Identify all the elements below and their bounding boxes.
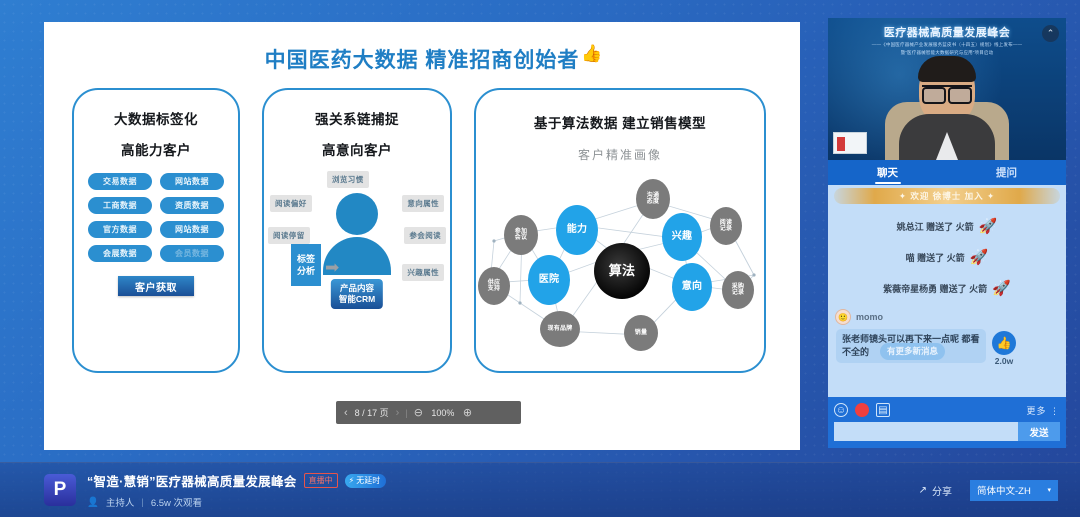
network-node: 供应 支持 — [478, 267, 510, 305]
share-label: 分享 — [932, 483, 952, 498]
chevron-down-icon: ▾ — [1047, 486, 1051, 494]
chat-message-author-row: 🙂 momo — [835, 309, 1066, 325]
chat-input-row[interactable]: 发送 — [834, 422, 1060, 441]
speaker-figure — [883, 64, 1011, 160]
emoji-icon[interactable]: ☺ — [834, 403, 848, 417]
zoom-level: 100% — [429, 408, 457, 418]
gift-icon[interactable] — [855, 403, 869, 417]
chat-message-bubble: 张老师镜头可以再下来一点呢 都看不全的 有更多新消息 — [836, 329, 986, 363]
data-pill: 网站数据 — [160, 221, 224, 238]
poster-standee — [833, 132, 867, 154]
panel-right-heading: 基于算法数据 建立销售模型 — [476, 112, 764, 132]
data-pill: 会展数据 — [88, 245, 152, 262]
no-lag-badge: ⚡ 无延时 — [345, 474, 387, 488]
network-node: 采购 记录 — [722, 271, 754, 309]
persona-head-icon — [336, 193, 378, 235]
chat-input-area[interactable]: ☺ ▤ 更多 ⋮ 发送 — [828, 397, 1066, 448]
chat-toolbar[interactable]: ☺ ▤ 更多 ⋮ — [834, 402, 1060, 418]
slide-title-text: 中国医药大数据 精准招商创始者 — [265, 49, 580, 72]
network-node: 现有品牌 — [540, 311, 580, 347]
tag-analysis-line-2: 分析 — [297, 265, 315, 277]
zoom-in-icon[interactable]: ⊕ — [463, 406, 472, 419]
welcome-banner: ✦ 欢迎 徐博士 加入 ✦ — [834, 188, 1060, 204]
data-pill: 网站数据 — [160, 173, 224, 190]
chat-input[interactable] — [834, 422, 1018, 441]
network-node: 意向 — [672, 263, 712, 311]
chat-message-row: 张老师镜头可以再下来一点呢 都看不全的 有更多新消息 👍 2.0w — [836, 329, 1066, 366]
send-button[interactable]: 发送 — [1018, 422, 1060, 441]
footer-info: “智造·慧销”医疗器械高质量发展峰会 直播中 ⚡ 无延时 👤 主持人 | 6.5… — [87, 471, 386, 509]
tag-analysis-connector: 标签 分析 — [291, 244, 321, 286]
page-indicator: 8 / 17 页 — [354, 406, 390, 419]
brand-logo: P — [44, 474, 76, 506]
bubble-reading-preference: 阅读偏好 — [270, 195, 312, 212]
pdf-viewer-toolbar[interactable]: ‹ 8 / 17 页 › | ⊖ 100% ⊕ — [336, 401, 521, 424]
panel-strong-relationship: 强关系链捕捉 高意向客户 浏览习惯 阅读偏好 阅读停留 意向属性 参会阅读 兴趣… — [262, 88, 452, 373]
data-pill: 官方数据 — [88, 221, 152, 238]
data-pill: 交易数据 — [88, 173, 152, 190]
tag-analysis-line-1: 标签 — [297, 253, 315, 265]
rocket-icon: 🚀 — [979, 217, 998, 235]
graph-subtitle: 客户精准画像 — [476, 146, 764, 163]
chat-tab-bar[interactable]: 聊天 提问 — [828, 160, 1066, 185]
thumbs-up-icon: 👍 — [581, 44, 603, 64]
person-icon: 👤 — [87, 497, 99, 508]
network-node-core: 算法 — [594, 243, 650, 299]
bubble-browsing-habit: 浏览习惯 — [327, 171, 369, 188]
footer-actions: ↗ 分享 简体中文-ZH ▾ — [919, 480, 1058, 501]
bubble-intent-attribute: 意向属性 — [402, 195, 444, 212]
bubble-meeting-reading: 参会阅读 — [404, 227, 446, 244]
live-status-badge: 直播中 — [304, 473, 338, 488]
event-title: “智造·慧销”医疗器械高质量发展峰会 — [87, 471, 297, 490]
rocket-icon: 🚀 — [992, 279, 1011, 297]
network-node: 能力 — [556, 205, 598, 255]
slide-panels: 大数据标签化 高能力客户 交易数据 网站数据 工商数据 资质数据 官方数据 网站… — [44, 74, 800, 373]
panel-mid-heading-1: 强关系链捕捉 — [264, 108, 450, 128]
data-pill: 工商数据 — [88, 197, 152, 214]
footer-meta: 👤 主持人 | 6.5w 次观看 — [87, 495, 386, 509]
share-button[interactable]: ↗ 分享 — [919, 483, 952, 498]
slide-title: 中国医药大数据 精准招商创始者👍 — [44, 44, 800, 74]
zoom-out-icon[interactable]: ⊖ — [414, 406, 423, 419]
footer-bar: P “智造·慧销”医疗器械高质量发展峰会 直播中 ⚡ 无延时 👤 主持人 | 6… — [0, 462, 1080, 517]
gift-message: 喵 赠送了 火箭 🚀 — [828, 248, 1066, 266]
bubble-reading-dwell: 阅读停留 — [268, 227, 310, 244]
host-role: 主持人 — [106, 495, 135, 509]
share-icon: ↗ — [919, 485, 927, 496]
view-count: 6.5w 次观看 — [151, 495, 202, 509]
crm-line-2: 智能CRM — [339, 294, 375, 305]
tab-chat[interactable]: 聊天 — [828, 160, 947, 185]
avatar: 🙂 — [835, 309, 851, 325]
customer-profile-network-graph: 参加 会议能力沟通 态度兴趣阅读 记录医院供应 支持意向采购 记录现有品牌销量 … — [476, 163, 764, 359]
network-node: 阅读 记录 — [710, 207, 742, 245]
thumbs-up-icon[interactable]: 👍 — [992, 331, 1016, 355]
crm-label: 产品内容 智能CRM — [331, 279, 383, 309]
gift-message-text: 姚总江 赠送了 火箭 — [897, 220, 974, 233]
gift-message: 紫薇帝星杨勇 赠送了 火箭 🚀 — [828, 279, 1066, 297]
glasses-icon — [922, 85, 972, 98]
presentation-slide-area[interactable]: 中国医药大数据 精准招商创始者👍 大数据标签化 高能力客户 交易数据 网站数据 … — [44, 22, 800, 450]
more-options-button[interactable]: 更多 ⋮ — [1026, 404, 1060, 417]
network-node: 参加 会议 — [504, 215, 538, 255]
crm-line-1: 产品内容 — [339, 283, 375, 294]
panel-big-data-tagging: 大数据标签化 高能力客户 交易数据 网站数据 工商数据 资质数据 官方数据 网站… — [72, 88, 240, 373]
toolbar-divider: | — [405, 408, 407, 418]
panel-left-heading-1: 大数据标签化 — [74, 108, 238, 128]
video-screen-subtitle-1: ——《中国医疗器械产业发展服务蓝皮书（十四五）规划》线上发布—— — [828, 42, 1066, 48]
footer-title-row: “智造·慧销”医疗器械高质量发展峰会 直播中 ⚡ 无延时 — [87, 471, 386, 490]
like-control[interactable]: 👍 2.0w — [992, 331, 1016, 366]
customer-acquisition-button: 客户获取 — [118, 276, 194, 296]
no-lag-label: 无延时 — [356, 475, 380, 486]
network-node: 沟通 态度 — [636, 179, 670, 219]
speaker-hair — [918, 56, 976, 82]
panel-left-heading-2: 高能力客户 — [74, 139, 238, 159]
tab-qa[interactable]: 提问 — [947, 160, 1066, 185]
rocket-icon: 🚀 — [970, 248, 989, 266]
network-node: 兴趣 — [662, 213, 702, 261]
collapse-chevron-icon[interactable]: ⌃ — [1042, 25, 1059, 42]
like-count: 2.0w — [995, 356, 1013, 366]
next-page-icon[interactable]: › — [396, 407, 400, 419]
meta-divider: | — [141, 497, 143, 508]
arrow-right-icon: ➡ — [325, 258, 339, 278]
chat-author-name: momo — [856, 312, 883, 322]
language-select[interactable]: 简体中文-ZH ▾ — [970, 480, 1058, 501]
video-screen-title: 医疗器械高质量发展峰会 — [828, 24, 1066, 40]
new-messages-button[interactable]: 有更多新消息 — [880, 343, 945, 360]
gift-message-text: 喵 赠送了 火箭 — [906, 251, 965, 264]
data-pill: 会员数据 — [160, 245, 224, 262]
data-pill: 资质数据 — [160, 197, 224, 214]
chat-message-list[interactable]: ✦ 欢迎 徐博士 加入 ✦ 姚总江 赠送了 火箭 🚀 喵 赠送了 火箭 🚀 紫薇… — [828, 185, 1066, 397]
data-source-pill-grid: 交易数据 网站数据 工商数据 资质数据 官方数据 网站数据 会展数据 会员数据 — [74, 159, 238, 262]
lightning-icon: ⚡ — [349, 476, 355, 485]
bubble-interest-attribute: 兴趣属性 — [402, 264, 444, 281]
card-icon[interactable]: ▤ — [876, 403, 890, 417]
speaker-video-panel[interactable]: 医疗器械高质量发展峰会 ——《中国医疗器械产业发展服务蓝皮书（十四五）规划》线上… — [828, 18, 1066, 160]
network-node: 销量 — [624, 315, 658, 351]
prev-page-icon[interactable]: ‹ — [344, 407, 348, 419]
gift-message-text: 紫薇帝星杨勇 赠送了 火箭 — [883, 282, 987, 295]
language-value: 简体中文-ZH — [977, 483, 1031, 497]
panel-sales-model: 基于算法数据 建立销售模型 客户精准画像 — [474, 88, 766, 373]
right-sidebar: 医疗器械高质量发展峰会 ——《中国医疗器械产业发展服务蓝皮书（十四五）规划》线上… — [828, 18, 1066, 448]
gift-message: 姚总江 赠送了 火箭 🚀 — [828, 217, 1066, 235]
network-node: 医院 — [528, 255, 570, 305]
panel-mid-heading-2: 高意向客户 — [264, 139, 450, 159]
